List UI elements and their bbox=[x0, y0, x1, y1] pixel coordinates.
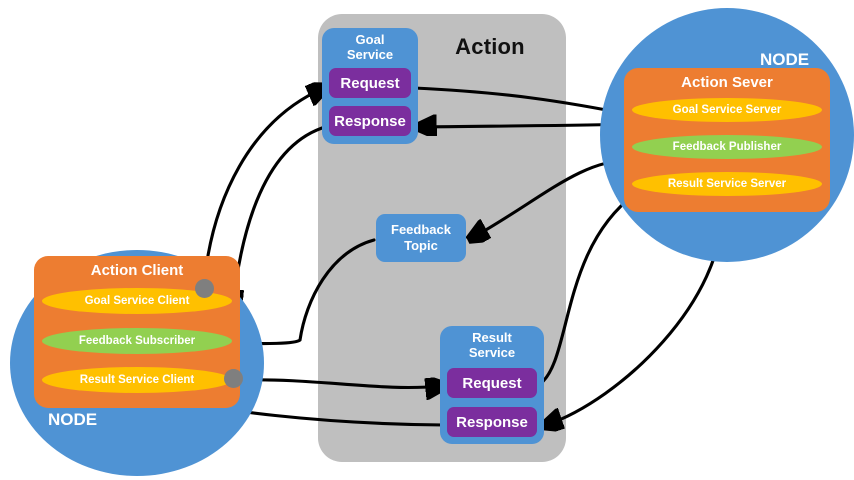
server-node-label: NODE bbox=[760, 50, 809, 70]
pill-goal-service-server[interactable]: Goal Service Server bbox=[632, 98, 822, 122]
result-service-request-box[interactable]: Request bbox=[447, 368, 537, 398]
client-node-label: NODE bbox=[48, 410, 97, 430]
action-container-label: Action bbox=[420, 34, 560, 60]
result-service-box[interactable]: Result Service Request Response bbox=[440, 326, 544, 444]
goal-service-title-line1: Goal bbox=[356, 32, 385, 47]
goal-service-request-box[interactable]: Request bbox=[329, 68, 411, 98]
result-service-title-line1: Result bbox=[472, 330, 512, 345]
pill-result-service-server[interactable]: Result Service Server bbox=[632, 172, 822, 196]
pill-feedback-subscriber[interactable]: Feedback Subscriber bbox=[42, 328, 232, 354]
action-server-title: Action Sever bbox=[624, 74, 830, 91]
connector-dot-goal-client bbox=[195, 279, 214, 298]
connector-dot-result-client bbox=[224, 369, 243, 388]
feedback-topic-line2: Topic bbox=[404, 238, 438, 254]
result-service-response-box[interactable]: Response bbox=[447, 407, 537, 437]
feedback-topic-line1: Feedback bbox=[391, 222, 451, 238]
action-client-title: Action Client bbox=[34, 262, 240, 279]
pill-result-service-client[interactable]: Result Service Client bbox=[42, 367, 232, 393]
action-client-box[interactable]: Action Client Goal Service Client Feedba… bbox=[34, 256, 240, 408]
result-service-title-line2: Service bbox=[469, 345, 515, 360]
goal-service-title-line2: Service bbox=[347, 47, 393, 62]
pill-feedback-publisher[interactable]: Feedback Publisher bbox=[632, 135, 822, 159]
goal-service-title: Goal Service bbox=[322, 32, 418, 62]
goal-service-response-box[interactable]: Response bbox=[329, 106, 411, 136]
arrow-goalresponse-to-goalserviceclient bbox=[233, 128, 322, 306]
feedback-topic-box[interactable]: Feedback Topic bbox=[376, 214, 466, 262]
diagram-canvas: Action Goal Service bbox=[0, 0, 854, 480]
action-server-box[interactable]: Action Sever Goal Service Server Feedbac… bbox=[624, 68, 830, 212]
goal-service-box[interactable]: Goal Service Request Response bbox=[322, 28, 418, 144]
result-service-title: Result Service bbox=[440, 330, 544, 360]
